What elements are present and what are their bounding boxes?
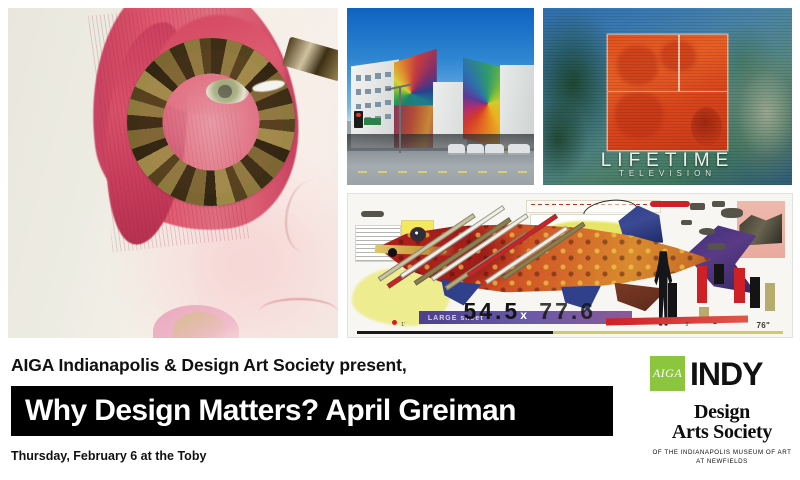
- fishposter-clip-art: [361, 211, 383, 217]
- aiga-mark-text: AIGA: [653, 366, 682, 381]
- fishposter-black-bar: [668, 283, 678, 320]
- fishposter-red-pill: [650, 201, 690, 207]
- fishposter-clip-art: [708, 243, 726, 250]
- fishposter-dimension-a: 54.5: [463, 298, 520, 324]
- architecture-car: [467, 144, 484, 155]
- headline-bar: Why Design Matters? April Greiman: [11, 386, 613, 436]
- das-line-1: Design: [652, 402, 792, 422]
- fishposter-clip-art: [690, 203, 705, 210]
- fishposter-khaki-bar: [765, 283, 775, 312]
- architecture-car: [448, 144, 465, 155]
- aiga-chapter-text: INDY: [690, 358, 762, 390]
- fishposter-bottom-rule: [357, 331, 783, 334]
- page-title: Why Design Matters? April Greiman: [11, 386, 613, 436]
- das-subline-1: OF THE INDIANAPOLIS MUSEUM OF ART: [652, 448, 792, 457]
- architecture-street-sign: [364, 118, 381, 125]
- das-line-2: Arts Society: [652, 422, 792, 442]
- april-greiman-portrait-image: [8, 8, 338, 338]
- aiga-indy-logo: AIGA INDY: [650, 356, 762, 391]
- architecture-road-markings: [358, 171, 526, 173]
- architecture-traffic-signal: [354, 111, 362, 129]
- architecture-light-pole: [399, 86, 401, 153]
- fishposter-fish-eye: [410, 227, 426, 242]
- fishposter-scale-right: 5': [685, 322, 689, 328]
- fishposter-red-bar: [734, 268, 745, 302]
- fishposter-scale-far-right: 76": [756, 321, 770, 330]
- das-subline-2: AT NEWFIELDS: [652, 457, 792, 466]
- poster-canvas: LIFETIME TELEVISION: [0, 0, 800, 480]
- fish-collage-poster-image: LARGE sheet 54.5x 77.6 1' 5' 76": [347, 193, 793, 338]
- fishposter-scale-left: 1': [401, 322, 405, 328]
- mural-buildings-image: [347, 8, 534, 185]
- presenter-line: AIGA Indianapolis & Design Art Society p…: [11, 355, 407, 376]
- fishposter-red-bar: [697, 266, 708, 303]
- architecture-car: [485, 144, 504, 155]
- fishposter-dimension-x: x: [520, 308, 530, 322]
- fishposter-black-bar: [750, 277, 760, 308]
- fishposter-black-bar: [714, 264, 724, 284]
- lifetime-sub-wordmark: TELEVISION: [543, 169, 792, 178]
- design-arts-society-logo: Design Arts Society OF THE INDIANAPOLIS …: [652, 402, 792, 466]
- fishposter-clip-art: [712, 201, 725, 207]
- architecture-storefront-band: [347, 134, 534, 152]
- architecture-road: [347, 151, 534, 185]
- aiga-mark: AIGA: [650, 356, 685, 391]
- fishposter-dimension-b: 77.6: [539, 298, 596, 324]
- portrait-glasses-rim: [127, 38, 295, 206]
- fishposter-large-text: LARGE: [428, 315, 458, 322]
- architecture-car: [508, 144, 530, 155]
- fishposter-clip-art: [721, 208, 743, 218]
- portrait-lip: [259, 298, 338, 326]
- date-line: Thursday, February 6 at the Toby: [11, 449, 206, 463]
- fishposter-clip-art: [681, 220, 692, 226]
- lifetime-television-image: LIFETIME TELEVISION: [543, 8, 792, 185]
- fishposter-dimensions: 54.5x 77.6: [463, 298, 596, 325]
